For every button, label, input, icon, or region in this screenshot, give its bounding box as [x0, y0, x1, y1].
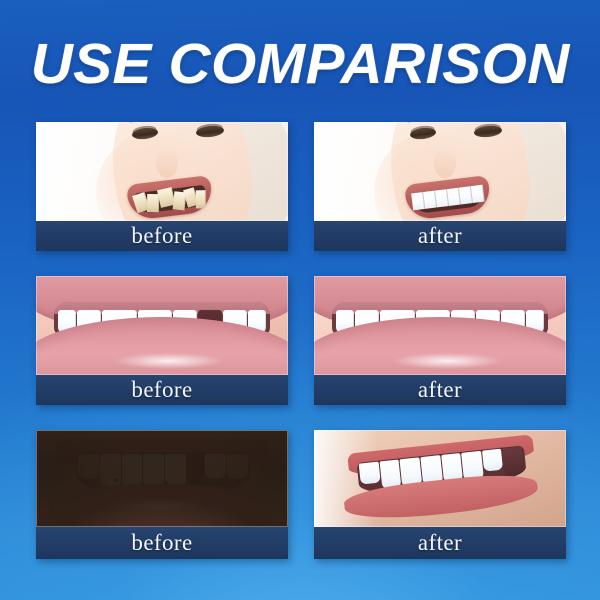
card-row2-before[interactable]: before — [36, 276, 288, 405]
card-row1-before[interactable]: before — [36, 122, 288, 251]
photo-row2-before — [36, 276, 288, 375]
label-row1-after: after — [314, 221, 566, 251]
card-row2-after[interactable]: after — [314, 276, 566, 405]
photo-row1-before — [36, 122, 288, 221]
photo-row1-after — [314, 122, 566, 221]
card-row1-after[interactable]: after — [314, 122, 566, 251]
use-comparison-poster: USE COMPARISON — [0, 0, 600, 600]
card-row3-after[interactable]: after — [314, 430, 566, 559]
label-row3-after: after — [314, 527, 566, 559]
photo-row3-after — [314, 430, 566, 527]
photo-row2-after — [314, 276, 566, 375]
label-row3-before: before — [36, 527, 288, 559]
photo-row3-before — [36, 430, 288, 527]
comparison-row-3: before — [36, 430, 566, 559]
card-row3-before[interactable]: before — [36, 430, 288, 559]
label-row1-before: before — [36, 221, 288, 251]
page-title: USE COMPARISON — [30, 34, 569, 94]
title-container: USE COMPARISON — [0, 34, 600, 94]
comparison-row-1: before — [36, 122, 566, 251]
label-row2-after: after — [314, 375, 566, 405]
comparison-row-2: before — [36, 276, 566, 405]
label-row2-before: before — [36, 375, 288, 405]
